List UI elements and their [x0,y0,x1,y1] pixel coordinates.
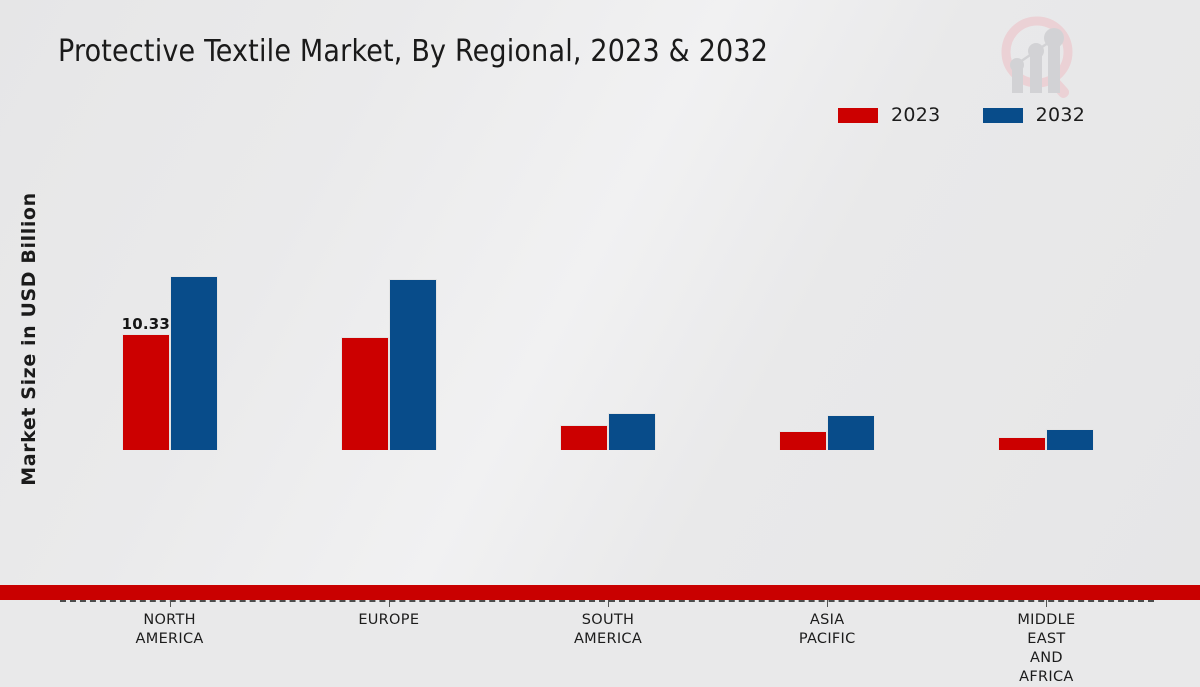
axis-tick [389,600,390,607]
bar-pair [779,415,875,450]
bar-pair [560,413,656,450]
legend-swatch-2032 [983,108,1023,123]
magnifier-bar-chart-logo [985,8,1095,103]
category-label-line: EAST [1017,630,1075,649]
axis-tick [827,600,828,607]
bar-2032-north-america[interactable] [170,276,218,450]
bar-2032-south-america[interactable] [608,413,656,450]
bottom-accent-bar [0,585,1200,600]
category-label-line: ASIA [799,611,856,630]
axis-tick [1046,600,1047,607]
bar-group: 10.33NORTHAMERICA [60,150,279,450]
category-label: SOUTHAMERICA [574,611,642,649]
chart-legend: 2023 2032 [838,104,1085,126]
bar-2023-middle-east-and-africa[interactable] [998,437,1046,450]
bar-2032-asia-pacific[interactable] [827,415,875,450]
category-label-line: AMERICA [136,630,204,649]
legend-label-2023: 2023 [891,104,941,126]
chart-title: Protective Textile Market, By Regional, … [58,34,768,69]
category-label-line: PACIFIC [799,630,856,649]
chart-canvas: Protective Textile Market, By Regional, … [0,0,1200,600]
bar-groups: 10.33NORTHAMERICAEUROPESOUTHAMERICAASIAP… [60,150,1156,450]
category-label-line: AFRICA [1017,668,1075,687]
bar-group: ASIAPACIFIC [718,150,937,450]
bar-2023-asia-pacific[interactable] [779,431,827,450]
category-label-line: SOUTH [574,611,642,630]
category-label: EUROPE [358,611,419,630]
bar-value-label: 10.33 [122,315,170,333]
legend-swatch-2023 [838,108,878,123]
bar-2023-north-america[interactable] [122,334,170,450]
category-label: ASIAPACIFIC [799,611,856,649]
legend-item-2032[interactable]: 2032 [983,104,1086,126]
category-label-line: AMERICA [574,630,642,649]
bar-group: EUROPE [279,150,498,450]
axis-tick [170,600,171,607]
bar-group: SOUTHAMERICA [498,150,717,450]
bar-pair [998,429,1094,450]
category-label-line: NORTH [136,611,204,630]
legend-item-2023[interactable]: 2023 [838,104,941,126]
legend-label-2032: 2032 [1036,104,1086,126]
category-label-line: MIDDLE [1017,611,1075,630]
category-label-line: AND [1017,649,1075,668]
bar-2023-europe[interactable] [341,337,389,450]
bar-2032-europe[interactable] [389,279,437,450]
y-axis-title: Market Size in USD Billion [18,159,40,519]
category-label: MIDDLEEASTANDAFRICA [1017,611,1075,687]
category-label: NORTHAMERICA [136,611,204,649]
bar-pair [341,279,437,450]
axis-tick [608,600,609,607]
bar-group: MIDDLEEASTANDAFRICA [937,150,1156,450]
category-label-line: EUROPE [358,611,419,630]
axis-baseline [60,600,1154,602]
bar-2023-south-america[interactable] [560,425,608,450]
bar-pair [122,276,218,450]
bar-2032-middle-east-and-africa[interactable] [1046,429,1094,450]
